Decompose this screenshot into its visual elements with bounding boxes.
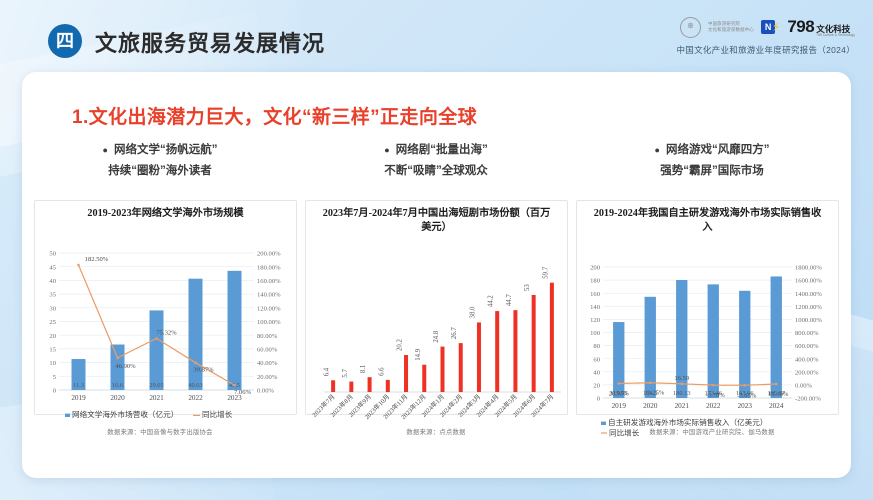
svg-text:1400.00%: 1400.00%: [795, 290, 822, 297]
bullet-dot-icon: ●: [103, 145, 108, 155]
svg-text:1200.00%: 1200.00%: [795, 303, 822, 310]
svg-text:180.13: 180.13: [673, 390, 691, 397]
svg-text:120: 120: [590, 317, 601, 324]
svg-text:13.39%: 13.39%: [768, 391, 789, 398]
svg-text:40: 40: [49, 278, 56, 285]
svg-text:100.00%: 100.00%: [257, 319, 281, 326]
seal-caption-line2: 文化和旅游部数据中心: [708, 27, 754, 33]
svg-text:44.7: 44.7: [506, 293, 513, 305]
source-row: 数据来源：中国音像与数字出版协会 数据来源：点点数据 数据来源：中国游戏产业研究…: [22, 427, 851, 436]
svg-text:40: 40: [593, 369, 600, 376]
svg-text:同比增长: 同比增长: [202, 409, 233, 419]
svg-text:1000.00%: 1000.00%: [795, 317, 822, 324]
svg-text:20: 20: [49, 333, 56, 340]
svg-text:60.00%: 60.00%: [257, 346, 278, 353]
svg-text:16.6: 16.6: [112, 382, 123, 389]
bullet-1-line2: 持续“圈粉”海外读者: [22, 161, 298, 182]
source-2: 数据来源：点点数据: [298, 427, 574, 436]
seal-caption: 中国旅游研究院 文化和旅游部数据中心: [708, 21, 754, 33]
svg-text:-5.65%: -5.65%: [737, 392, 757, 399]
svg-text:26.7: 26.7: [451, 326, 458, 338]
brand-798-logo: 798 文化科技 798 Culture & Technology: [787, 17, 855, 37]
svg-text:100: 100: [590, 330, 601, 337]
content-card: 1.文化出海潜力巨大，文化“新三样”正走向全球 ●网络文学“扬帆远航” 持续“圈…: [22, 72, 851, 478]
svg-text:16.59: 16.59: [674, 374, 690, 381]
svg-text:0.00%: 0.00%: [257, 387, 275, 394]
svg-text:40.63: 40.63: [188, 382, 202, 389]
tourism-academy-seal-icon: 章: [680, 17, 701, 38]
svg-text:自主研发游戏海外市场实际销售收入（亿美元）: 自主研发游戏海外市场实际销售收入（亿美元）: [608, 417, 767, 427]
chart-2-canvas: 6.45.78.16.620.214.924.826.738.044.244.7…: [306, 235, 569, 450]
svg-text:2023: 2023: [227, 394, 242, 402]
xinhua-logo: N ⚡: [761, 20, 780, 34]
svg-text:140.00%: 140.00%: [257, 291, 281, 298]
svg-text:20.00%: 20.00%: [257, 374, 278, 381]
svg-text:2022: 2022: [188, 394, 203, 402]
source-1: 数据来源：中国音像与数字出版协会: [22, 427, 298, 436]
headline: 1.文化出海潜力巨大，文化“新三样”正走向全球: [72, 102, 477, 129]
svg-text:2024: 2024: [769, 402, 784, 410]
svg-text:2020: 2020: [110, 394, 125, 402]
chart-panel-online-literature: 2019-2023年网络文学海外市场规模 00.00%520.00%1040.0…: [34, 200, 297, 415]
svg-text:180.00%: 180.00%: [257, 264, 281, 271]
svg-text:2021: 2021: [675, 402, 690, 410]
svg-text:140: 140: [590, 303, 601, 310]
svg-text:44.2: 44.2: [488, 294, 495, 306]
svg-text:50: 50: [49, 250, 56, 257]
svg-text:2019: 2019: [71, 394, 86, 402]
svg-text:39.87%: 39.87%: [193, 366, 214, 373]
svg-text:5: 5: [53, 374, 57, 381]
svg-text:20.2: 20.2: [397, 338, 404, 350]
section-number-badge: 四: [48, 24, 82, 58]
svg-text:80.00%: 80.00%: [257, 333, 278, 340]
bullet-dot-icon: ●: [655, 145, 660, 155]
svg-text:200: 200: [590, 264, 601, 271]
svg-text:2022: 2022: [706, 402, 721, 410]
svg-text:182.50%: 182.50%: [85, 256, 109, 263]
svg-text:20.95%: 20.95%: [609, 390, 630, 397]
svg-text:10: 10: [49, 360, 56, 367]
svg-text:75.32%: 75.32%: [156, 329, 177, 336]
brand-798-en: 798 Culture & Technology: [816, 34, 855, 37]
svg-text:400.00%: 400.00%: [795, 356, 819, 363]
svg-text:80: 80: [593, 343, 600, 350]
svg-text:30: 30: [49, 305, 56, 312]
svg-text:160.00%: 160.00%: [257, 278, 281, 285]
chart-1-title: 2019-2023年网络文学海外市场规模: [35, 201, 296, 221]
brand-798-number: 798: [787, 17, 814, 37]
chart-1-canvas: 00.00%520.00%1040.00%1560.00%2080.00%251…: [35, 221, 298, 436]
bullet-3-line2: 强势“霸屏”国际市场: [574, 161, 850, 182]
svg-text:1800.00%: 1800.00%: [795, 264, 822, 271]
bullet-dot-icon: ●: [384, 145, 389, 155]
svg-text:160: 160: [590, 290, 601, 297]
svg-text:-3.70%: -3.70%: [706, 392, 726, 399]
svg-text:45: 45: [49, 264, 56, 271]
svg-text:0.00%: 0.00%: [795, 382, 813, 389]
logo-row: 章 中国旅游研究院 文化和旅游部数据中心 N ⚡ 798 文化科技 798 Cu…: [680, 16, 855, 38]
svg-text:网络文学海外市场营收（亿元）: 网络文学海外市场营收（亿元）: [72, 409, 178, 419]
chart-panel-short-drama: 2023年7月-2024年7月中国出海短剧市场份额（百万美元） 6.45.78.…: [305, 200, 568, 415]
svg-text:200.00%: 200.00%: [257, 250, 281, 257]
bullet-3-line1: 网络游戏“风靡四方”: [666, 144, 770, 156]
bullet-item-2: ●网络剧“批量出海” 不断“吸睛”全球观众: [298, 140, 574, 183]
chart-2-title: 2023年7月-2024年7月中国出海短剧市场份额（百万美元）: [306, 201, 567, 235]
source-3: 数据来源：中国游戏产业研究院、伽马数据: [574, 427, 850, 436]
svg-text:24.8: 24.8: [433, 330, 440, 342]
svg-text:60: 60: [593, 356, 600, 363]
bullet-2-line1: 网络剧“批量出海”: [396, 144, 488, 156]
bullet-row: ●网络文学“扬帆远航” 持续“圈粉”海外读者 ●网络剧“批量出海” 不断“吸睛”…: [22, 140, 851, 183]
slide-header: 四 文旅服务贸易发展情况 章 中国旅游研究院 文化和旅游部数据中心 N ⚡ 79…: [0, 0, 873, 72]
svg-text:14.9: 14.9: [415, 348, 422, 360]
svg-text:15: 15: [49, 346, 56, 353]
chart-panel-games: 2019-2024年我国自主研发游戏海外市场实际销售收入 0-200.00%20…: [576, 200, 839, 415]
bullet-2-line2: 不断“吸睛”全球观众: [298, 161, 574, 182]
svg-text:6.4: 6.4: [324, 367, 331, 376]
bullet-item-3: ●网络游戏“风靡四方” 强势“霸屏”国际市场: [574, 140, 850, 183]
svg-text:2019: 2019: [612, 402, 627, 410]
svg-text:600.00%: 600.00%: [795, 343, 819, 350]
svg-text:2020: 2020: [643, 402, 658, 410]
svg-text:6.6: 6.6: [378, 366, 385, 375]
svg-text:800.00%: 800.00%: [795, 330, 819, 337]
svg-text:29.05: 29.05: [149, 382, 163, 389]
xinhua-flash-icon: ⚡: [772, 20, 780, 34]
svg-text:200.00%: 200.00%: [795, 369, 819, 376]
svg-text:59.7: 59.7: [542, 266, 549, 278]
svg-text:20: 20: [593, 382, 600, 389]
svg-text:53: 53: [524, 283, 531, 290]
svg-text:33.25%: 33.25%: [644, 389, 665, 396]
svg-text:46.90%: 46.90%: [115, 363, 136, 370]
bullet-item-1: ●网络文学“扬帆远航” 持续“圈粉”海外读者: [22, 140, 298, 183]
svg-text:38.0: 38.0: [469, 305, 476, 317]
svg-text:180: 180: [590, 277, 601, 284]
svg-text:2021: 2021: [149, 394, 164, 402]
svg-text:0: 0: [53, 387, 57, 394]
seal-glyph: 章: [687, 24, 693, 30]
svg-text:5.7: 5.7: [342, 368, 349, 377]
report-subtitle: 中国文化产业和旅游业年度研究报告（2024）: [676, 44, 855, 56]
svg-text:120.00%: 120.00%: [257, 305, 281, 312]
bullet-1-line1: 网络文学“扬帆远航”: [114, 144, 218, 156]
svg-text:8.1: 8.1: [360, 364, 367, 373]
svg-text:40.00%: 40.00%: [257, 360, 278, 367]
svg-text:2023: 2023: [738, 402, 753, 410]
svg-text:-200.00%: -200.00%: [795, 395, 821, 402]
page-title: 文旅服务贸易发展情况: [95, 26, 325, 58]
svg-text:35: 35: [49, 291, 56, 298]
svg-text:25: 25: [49, 319, 56, 326]
chart-3-title: 2019-2024年我国自主研发游戏海外市场实际销售收入: [577, 201, 838, 235]
chart-panels: 2019-2023年网络文学海外市场规模 00.00%520.00%1040.0…: [34, 200, 839, 415]
svg-text:11.3: 11.3: [73, 382, 84, 389]
chart-3-canvas: 0-200.00%200.00%40200.00%60400.00%80600.…: [577, 235, 840, 450]
svg-text:0: 0: [597, 395, 601, 402]
svg-text:1600.00%: 1600.00%: [795, 277, 822, 284]
